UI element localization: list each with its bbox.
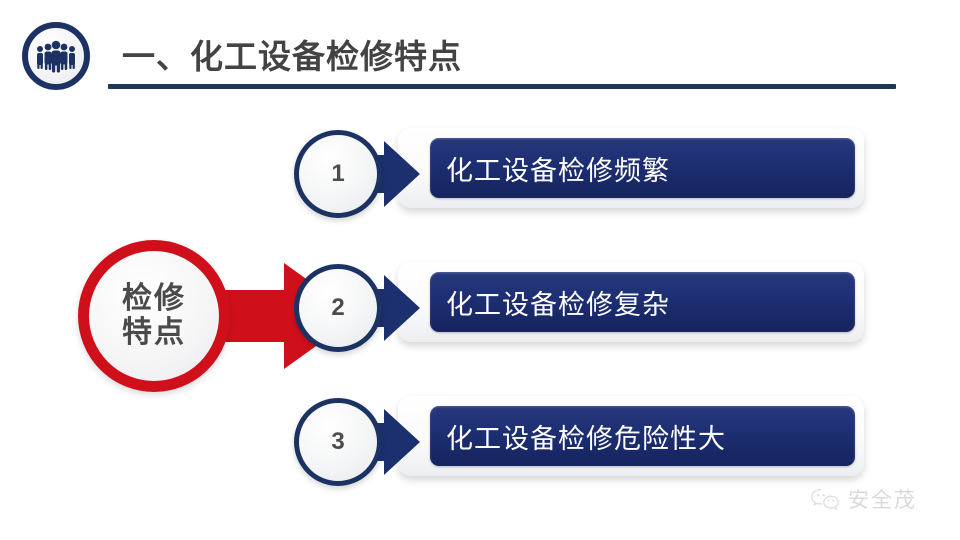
bar-label: 化工设备检修危险性大 — [446, 417, 726, 456]
bar-frame: 化工设备检修危险性大 — [398, 396, 864, 476]
page-title: 一、化工设备检修特点 — [122, 30, 462, 78]
hub-label-line-1: 检修 — [122, 282, 186, 316]
bar-fill: 化工设备检修复杂 — [430, 272, 855, 332]
hub-label-line-2: 特点 — [122, 316, 186, 350]
people-group-icon — [22, 22, 90, 90]
hub-circle: 检修 特点 — [78, 240, 230, 392]
step-number: 1 — [331, 160, 344, 188]
step-number: 3 — [331, 428, 344, 456]
step-number-circle: 3 — [294, 398, 382, 486]
step-number-circle: 1 — [294, 130, 382, 218]
header-divider — [108, 84, 896, 89]
bar-label: 化工设备检修复杂 — [446, 283, 670, 322]
step-number: 2 — [331, 294, 344, 322]
slide-canvas: 一、化工设备检修特点 检修 特点 化工设备检修频繁 1 化工设备检修复杂 — [0, 0, 960, 540]
watermark-text: 安全茂 — [848, 484, 917, 514]
bar-fill: 化工设备检修频繁 — [430, 138, 855, 198]
wechat-icon — [810, 487, 840, 511]
bar-fill: 化工设备检修危险性大 — [430, 406, 855, 466]
watermark: 安全茂 — [810, 484, 917, 514]
hub-group: 检修 特点 — [70, 232, 300, 400]
bar-frame: 化工设备检修复杂 — [398, 262, 864, 342]
bar-frame: 化工设备检修频繁 — [398, 128, 864, 208]
step-number-circle: 2 — [294, 264, 382, 352]
bar-label: 化工设备检修频繁 — [446, 149, 670, 188]
